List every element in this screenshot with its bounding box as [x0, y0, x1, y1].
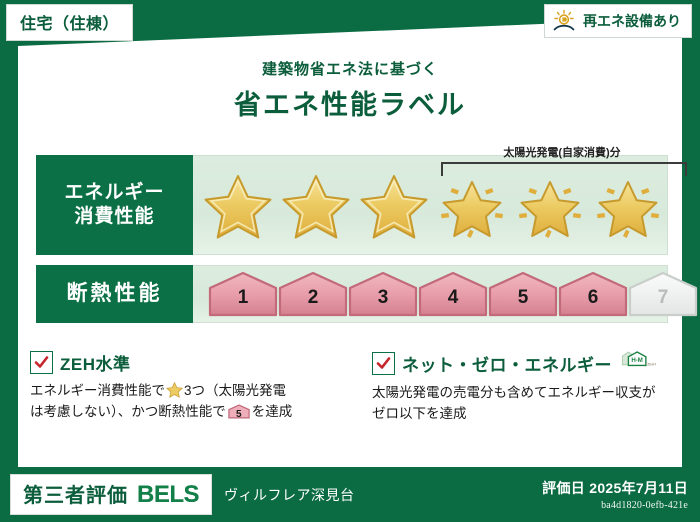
- insulation-label-text: 断熱性能: [67, 281, 163, 307]
- sun-solar-icon: [551, 9, 577, 33]
- inline-star-icon: [166, 381, 183, 398]
- title-subtitle: 建築物省エネ法に基づく: [0, 58, 700, 79]
- house-grade-5: 5: [487, 270, 559, 318]
- renewable-energy-badge-label: 再エネ設備あり: [583, 11, 681, 31]
- renewable-energy-badge: 再エネ設備あり: [544, 4, 692, 38]
- net-zero-energy-section: ネット・ゼロ・エネルギー H-M 「ZEH-M」 太陽光発電の売電分も含めてエネ…: [350, 350, 670, 425]
- evaluation-date: 評価日 2025年7月11日: [542, 478, 688, 498]
- insulation-performance-row: 断熱性能: [36, 265, 668, 323]
- bels-en-label: BELS: [137, 481, 199, 509]
- zeh-body-part1: エネルギー消費性能で: [30, 383, 165, 398]
- zeh-standard-title: ZEH水準: [60, 350, 131, 375]
- building-type-label: 住宅（住棟）: [20, 16, 119, 33]
- bels-energy-label: 住宅（住棟） 再エネ設備あり 建築物省エネ法に基づく 省エネ性能ラベル ハウ: [0, 0, 700, 522]
- inline-house-grade: 5: [228, 407, 250, 423]
- star-solar: [511, 166, 589, 244]
- star-solar: [433, 166, 511, 244]
- bels-jp-label: 第三者評価: [23, 479, 128, 508]
- star-filled: [199, 166, 277, 244]
- house-grade-4: 4: [417, 270, 489, 318]
- house-grade-7: 7: [627, 270, 699, 318]
- house-grade-6: 6: [557, 270, 629, 318]
- zeh-m-logo-icon: H-M 「ZEH-M」: [621, 350, 656, 377]
- evaluation-id: ba4d1820-0efb-421e: [542, 500, 688, 511]
- net-zero-energy-body: 太陽光発電の売電分も含めてエネルギー収支がゼロ以下を達成: [372, 383, 656, 425]
- energy-performance-row: エネルギー 消費性能 太陽光発電(自家消費)分: [36, 155, 668, 255]
- solar-bracket-label: 太陽光発電(自家消費)分: [441, 144, 683, 160]
- building-type-tab: 住宅（住棟）: [6, 4, 133, 41]
- house-grade-2: 2: [277, 270, 349, 318]
- net-zero-energy-header: ネット・ゼロ・エネルギー H-M 「ZEH-M」: [372, 350, 656, 377]
- zeh-body-part3: を達成: [252, 404, 293, 419]
- solar-bracket: [441, 162, 687, 176]
- house-grade-list: 1 2 3 4: [193, 266, 667, 322]
- zeh-body-star-count: 3つ（太陽光発電: [184, 383, 286, 398]
- zeh-m-logo-caption: 「ZEH-M」: [644, 361, 656, 366]
- zeh-standard-section: ZEH水準 エネルギー消費性能で 3つ（太陽光発電 は考慮しない）、かつ断熱性能…: [30, 350, 350, 425]
- zeh-m-logo-text: H-M: [631, 358, 642, 364]
- star-filled: [277, 166, 355, 244]
- inline-house-icon: 5: [228, 403, 250, 420]
- check-mark-icon: [372, 352, 395, 375]
- energy-label-line1: エネルギー: [64, 181, 164, 205]
- footer-meta: 評価日 2025年7月11日 ba4d1820-0efb-421e: [542, 478, 688, 511]
- net-zero-energy-title: ネット・ゼロ・エネルギー: [402, 351, 612, 376]
- house-grade-3: 3: [347, 270, 419, 318]
- footer-bar: 第三者評価 BELS ヴィルフレア深見台 評価日 2025年7月11日 ba4d…: [0, 467, 700, 522]
- zeh-standard-header: ZEH水準: [30, 350, 336, 375]
- title-block: 建築物省エネ法に基づく 省エネ性能ラベル: [0, 58, 700, 122]
- bels-logo: 第三者評価 BELS: [10, 474, 212, 515]
- building-name: ヴィルフレア深見台: [224, 485, 355, 505]
- page-title: 省エネ性能ラベル: [0, 83, 700, 122]
- zeh-body-part2: は考慮しない）、かつ断熱性能で: [30, 404, 226, 419]
- criteria-sections: ZEH水準 エネルギー消費性能で 3つ（太陽光発電 は考慮しない）、かつ断熱性能…: [30, 350, 670, 425]
- zeh-standard-body: エネルギー消費性能で 3つ（太陽光発電 は考慮しない）、かつ断熱性能で 5 を達…: [30, 381, 336, 423]
- insulation-performance-label: 断熱性能: [36, 265, 193, 323]
- energy-label-line2: 消費性能: [74, 205, 154, 229]
- energy-performance-label: エネルギー 消費性能: [36, 155, 193, 255]
- insulation-grade-meter: 1 2 3 4: [193, 265, 668, 323]
- check-mark-icon: [30, 351, 53, 374]
- star-filled: [355, 166, 433, 244]
- energy-performance-meter: 太陽光発電(自家消費)分: [193, 155, 668, 255]
- house-grade-1: 1: [207, 270, 279, 318]
- star-solar: [589, 166, 667, 244]
